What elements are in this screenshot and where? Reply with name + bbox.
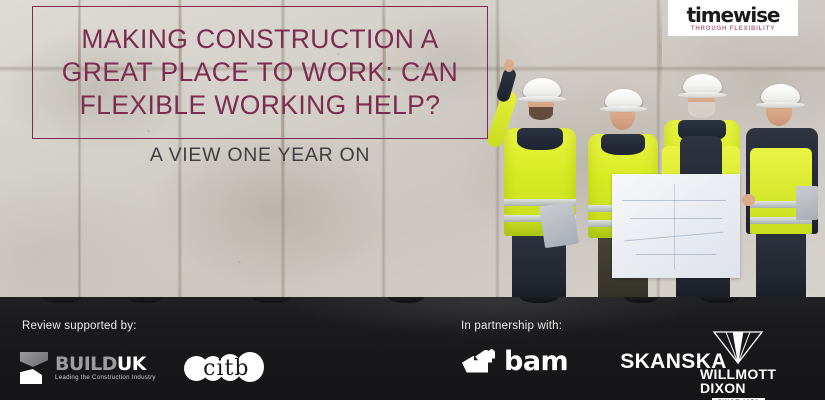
review-supported-by-label: Review supported by:	[22, 320, 137, 332]
in-partnership-with-label: In partnership with:	[461, 320, 562, 332]
shoe-shadow	[520, 297, 558, 303]
willmott-dixon-wordmark: WILLMOTT DIXON	[700, 367, 776, 395]
title-box: MAKING CONSTRUCTION A GREAT PLACE TO WOR…	[32, 6, 488, 139]
bam-mark-icon	[462, 349, 496, 375]
shoe-shadow	[252, 297, 290, 303]
worker-1-pointing	[498, 60, 584, 298]
build-uk-wordmark: BUILDUK	[55, 355, 156, 374]
bam-wordmark: bam	[504, 348, 568, 375]
shoe-shadow	[624, 297, 658, 303]
shoe-shadow	[388, 297, 424, 303]
willmott-dixon-logo[interactable]: WILLMOTT DIXON SINCE 1852	[700, 330, 776, 400]
report-cover-banner: MAKING CONSTRUCTION A GREAT PLACE TO WOR…	[0, 0, 825, 400]
build-uk-mark-icon	[20, 352, 48, 384]
build-uk-tagline: Leading the Construction Industry	[55, 375, 156, 381]
shoe-shadow	[42, 297, 82, 303]
citb-logo[interactable]: citb	[184, 352, 269, 384]
shoe-shadow	[128, 297, 162, 303]
build-uk-word-secondary: UK	[117, 353, 146, 375]
blueprint-sheet	[612, 174, 740, 278]
shoe-shadow	[700, 297, 740, 303]
build-uk-logo[interactable]: BUILDUK Leading the Construction Industr…	[20, 352, 156, 384]
supporter-logo-group: BUILDUK Leading the Construction Industr…	[20, 352, 269, 384]
timewise-logo[interactable]: timewise THROUGH FLEXIBILITY	[668, 0, 798, 36]
construction-workers-photo	[492, 60, 825, 298]
page-subtitle: A VIEW ONE YEAR ON	[32, 144, 488, 167]
bam-logo[interactable]: bam	[462, 348, 568, 375]
timewise-tagline: THROUGH FLEXIBILITY	[691, 26, 775, 32]
willmott-dixon-mark-icon	[712, 330, 764, 364]
page-title: MAKING CONSTRUCTION A GREAT PLACE TO WOR…	[54, 23, 466, 122]
citb-wordmark: citb	[184, 352, 269, 384]
partner-logo-group: bam SKANSKA WILLMOTT DIXON SINCE 1852	[462, 348, 727, 375]
build-uk-word-primary: BUILD	[55, 353, 117, 375]
worker-4	[740, 62, 824, 298]
timewise-wordmark: timewise	[687, 5, 780, 25]
